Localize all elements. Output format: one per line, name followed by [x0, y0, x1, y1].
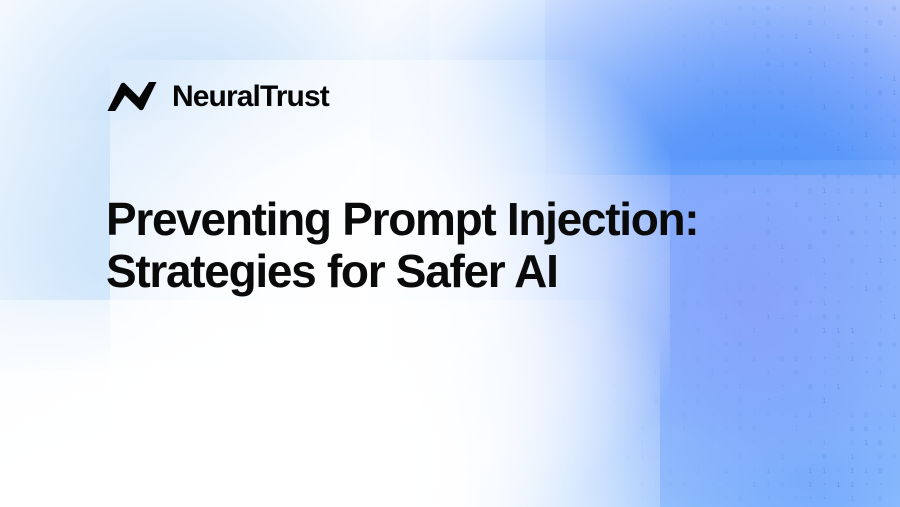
- brand-logo-lockup[interactable]: NeuralTrust: [106, 80, 329, 114]
- background-blob-sky-blue-top-left: [0, 0, 430, 370]
- background-blob-sky-blue-mid-left: [0, 120, 270, 500]
- brand-wordmark: NeuralTrust: [172, 82, 329, 112]
- page-title: Preventing Prompt Injection: Strategies …: [106, 193, 846, 298]
- neuraltrust-zigzag-n-icon: [106, 80, 158, 114]
- page-title-line-1: Preventing Prompt Injection:: [106, 193, 846, 245]
- page-title-line-2: Strategies for Safer AI: [106, 245, 846, 297]
- background-blob-white-bottom-left: [0, 300, 660, 507]
- hero-banner: 0·1·0··000·010001·101·0100··01··0···00·0…: [0, 0, 900, 507]
